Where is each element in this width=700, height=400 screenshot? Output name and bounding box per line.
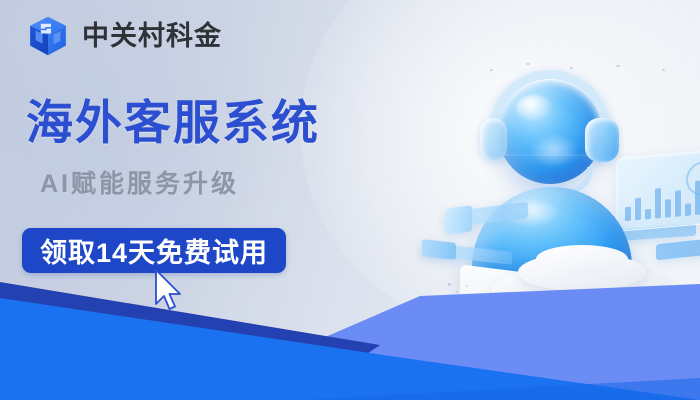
floating-plate-left-2-cap <box>422 239 456 260</box>
panel-bar <box>645 209 651 220</box>
panel-bar <box>675 190 681 217</box>
headset-earcup-right <box>585 118 619 162</box>
panel-bar <box>635 198 641 221</box>
floating-plate-right-2 <box>656 238 700 261</box>
bottom-decorative-bands <box>0 270 700 400</box>
pedestal-ring-3 <box>536 245 628 273</box>
cube-logo-icon <box>26 14 70 58</box>
brand-name: 中关村科金 <box>82 23 222 50</box>
speck <box>526 63 530 65</box>
panel-bar <box>665 199 671 218</box>
panel-bar <box>625 207 631 222</box>
free-trial-cta-button[interactable]: 领取14天免费试用 <box>22 228 286 273</box>
speck <box>662 69 665 71</box>
panel-bar <box>655 188 661 219</box>
speck <box>616 65 620 67</box>
brand-logo[interactable]: 中关村科金 <box>26 14 222 58</box>
speck <box>490 69 493 71</box>
panel-bar <box>685 203 691 216</box>
promo-banner: 中关村科金 海外客服系统 AI赋能服务升级 领取14天免费试用 <box>0 0 700 400</box>
page-title: 海外客服系统 <box>26 97 320 150</box>
headset-earcup-left <box>480 118 507 160</box>
speck <box>570 67 573 69</box>
page-subtitle: AI赋能服务升级 <box>40 172 239 197</box>
data-panel <box>616 148 700 232</box>
floating-plate-left-1-cap <box>446 205 472 234</box>
